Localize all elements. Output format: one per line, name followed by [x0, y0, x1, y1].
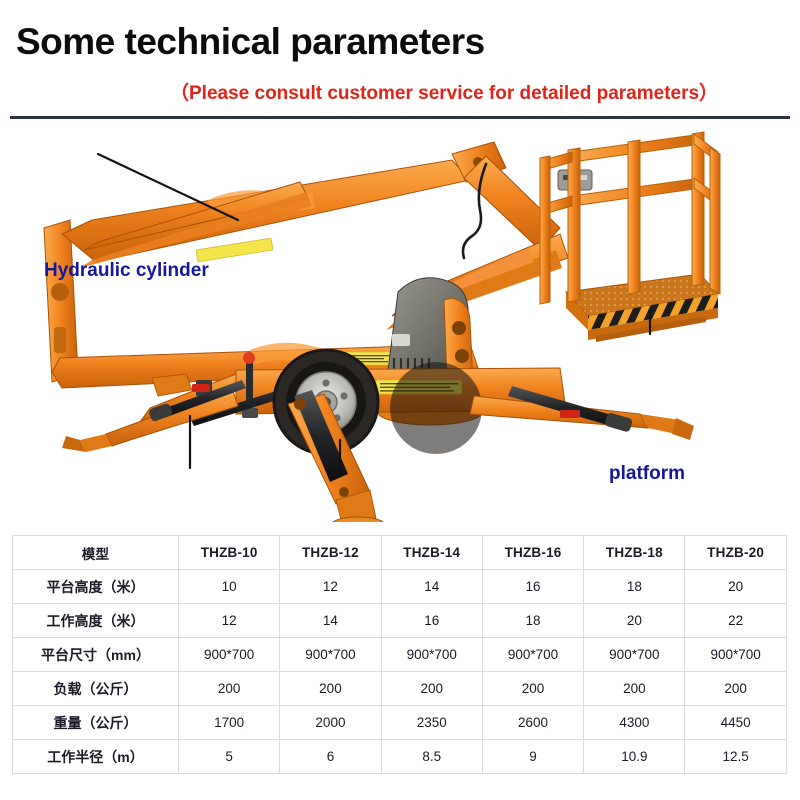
table-cell: 900*700 [280, 638, 381, 672]
table-cell: 200 [381, 672, 482, 706]
table-cell: 2350 [381, 706, 482, 740]
table-header-row: 模型THZB-10THZB-12THZB-14THZB-16THZB-18THZ… [13, 536, 787, 570]
table-row: 工作高度（米）121416182022 [13, 604, 787, 638]
warning-decal-upper [196, 238, 273, 262]
table-cell: 900*700 [381, 638, 482, 672]
table-cell: 2600 [482, 706, 583, 740]
table-cell: 200 [685, 672, 786, 706]
machine-illustration: Hydraulic cylinder platform Outrigger ty… [0, 122, 800, 522]
table-row: 负载（公斤）200200200200200200 [13, 672, 787, 706]
table-cell: 6 [280, 740, 381, 774]
row-header: 平台尺寸（mm） [13, 638, 179, 672]
table-cell: 16 [381, 604, 482, 638]
table-cell: 12 [179, 604, 280, 638]
table-cell: 22 [685, 604, 786, 638]
table-cell: 14 [381, 570, 482, 604]
table-cell: 5 [179, 740, 280, 774]
table-cell: 2000 [280, 706, 381, 740]
table-cell: 12 [280, 570, 381, 604]
table-cell: 200 [280, 672, 381, 706]
row-header: 工作高度（米） [13, 604, 179, 638]
table-cell: 12.5 [685, 740, 786, 774]
table-row: 平台高度（米）101214161820 [13, 570, 787, 604]
table-cell: 10 [179, 570, 280, 604]
table-cell: 14 [280, 604, 381, 638]
table-cell: 20 [685, 570, 786, 604]
table-cell: 18 [584, 570, 685, 604]
table-cell: 1700 [179, 706, 280, 740]
table-cell: 200 [179, 672, 280, 706]
table-cell: 20 [584, 604, 685, 638]
row-header: 重量（公斤） [13, 706, 179, 740]
table-cell: 9 [482, 740, 583, 774]
table-row: 重量（公斤）170020002350260043004450 [13, 706, 787, 740]
column-header-thzb-14: THZB-14 [381, 536, 482, 570]
row-header: 负载（公斤） [13, 672, 179, 706]
callout-label-hydraulic-cylinder: Hydraulic cylinder [44, 260, 209, 282]
table-cell: 18 [482, 604, 583, 638]
table-cell: 8.5 [381, 740, 482, 774]
callout-label-platform: platform [609, 463, 685, 485]
row-header: 工作半径（m） [13, 740, 179, 774]
column-header-thzb-20: THZB-20 [685, 536, 786, 570]
header-divider [10, 116, 790, 119]
column-header-model: 模型 [13, 536, 179, 570]
table-cell: 900*700 [482, 638, 583, 672]
table-cell: 4450 [685, 706, 786, 740]
table-cell: 200 [584, 672, 685, 706]
column-header-thzb-16: THZB-16 [482, 536, 583, 570]
table-row: 工作半径（m）568.5910.912.5 [13, 740, 787, 774]
row-header: 平台高度（米） [13, 570, 179, 604]
page-title: Some technical parameters [16, 21, 485, 63]
table-cell: 10.9 [584, 740, 685, 774]
column-header-thzb-18: THZB-18 [584, 536, 685, 570]
table-cell: 200 [482, 672, 583, 706]
table-cell: 900*700 [179, 638, 280, 672]
product-spec-page: Some technical parameters （Please consul… [0, 0, 800, 800]
table-cell: 4300 [584, 706, 685, 740]
column-header-thzb-10: THZB-10 [179, 536, 280, 570]
column-header-thzb-12: THZB-12 [280, 536, 381, 570]
platform-basket [540, 132, 720, 342]
table-cell: 16 [482, 570, 583, 604]
table-cell: 900*700 [584, 638, 685, 672]
table-row: 平台尺寸（mm）900*700900*700900*700900*700900*… [13, 638, 787, 672]
page-subtitle: （Please consult customer service for det… [170, 78, 718, 105]
specifications-table: 模型THZB-10THZB-12THZB-14THZB-16THZB-18THZ… [12, 535, 787, 774]
table-cell: 900*700 [685, 638, 786, 672]
